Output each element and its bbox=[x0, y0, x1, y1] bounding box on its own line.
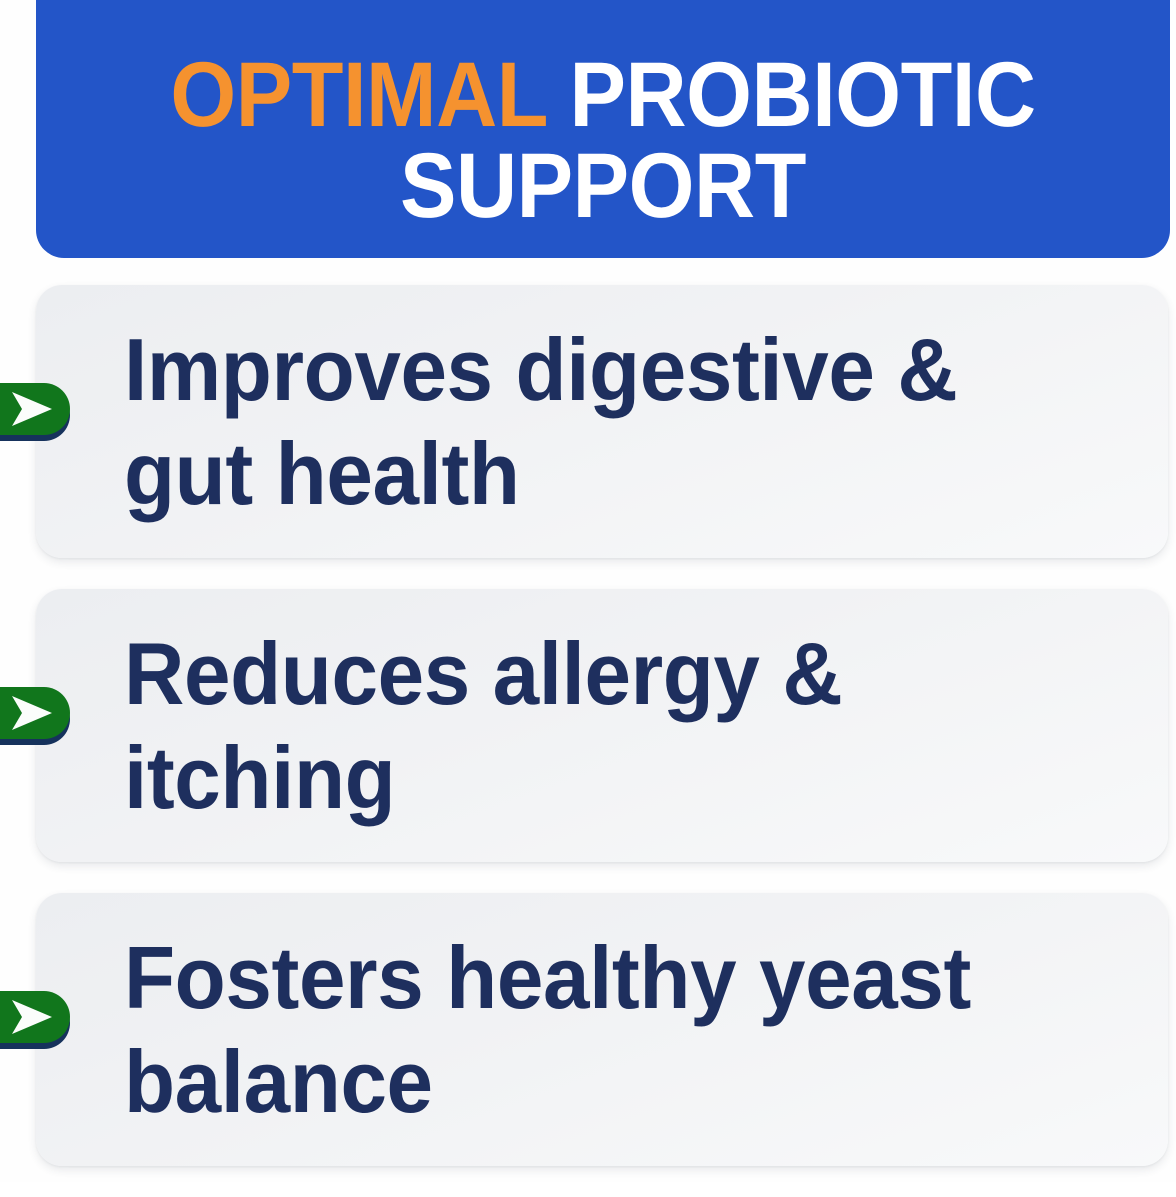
header-banner: OPTIMAL PROBIOTIC SUPPORT bbox=[36, 0, 1170, 258]
feature-card-3[interactable]: Fosters healthy yeast balance bbox=[36, 893, 1168, 1166]
feature-card-list: Improves digestive & gut health Reduces … bbox=[0, 285, 1176, 1197]
feature-row: Improves digestive & gut health bbox=[0, 285, 1176, 560]
page-title: OPTIMAL PROBIOTIC SUPPORT bbox=[98, 50, 1108, 232]
feature-row: Reduces allergy & itching bbox=[0, 589, 1176, 864]
promo-panel: OPTIMAL PROBIOTIC SUPPORT Improves diges… bbox=[0, 0, 1176, 1182]
feature-card-2-label: Reduces allergy & itching bbox=[124, 622, 1078, 830]
feature-card-3-label: Fosters healthy yeast balance bbox=[124, 926, 1078, 1134]
chevron-right-badge-icon bbox=[0, 991, 80, 1055]
chevron-right-badge-icon bbox=[0, 383, 80, 447]
feature-card-1-label: Improves digestive & gut health bbox=[124, 318, 1078, 526]
chevron-right-badge-icon bbox=[0, 687, 80, 751]
feature-card-1[interactable]: Improves digestive & gut health bbox=[36, 285, 1168, 558]
feature-card-2[interactable]: Reduces allergy & itching bbox=[36, 589, 1168, 862]
page-title-accent: OPTIMAL bbox=[170, 44, 546, 146]
feature-row: Fosters healthy yeast balance bbox=[0, 893, 1176, 1168]
